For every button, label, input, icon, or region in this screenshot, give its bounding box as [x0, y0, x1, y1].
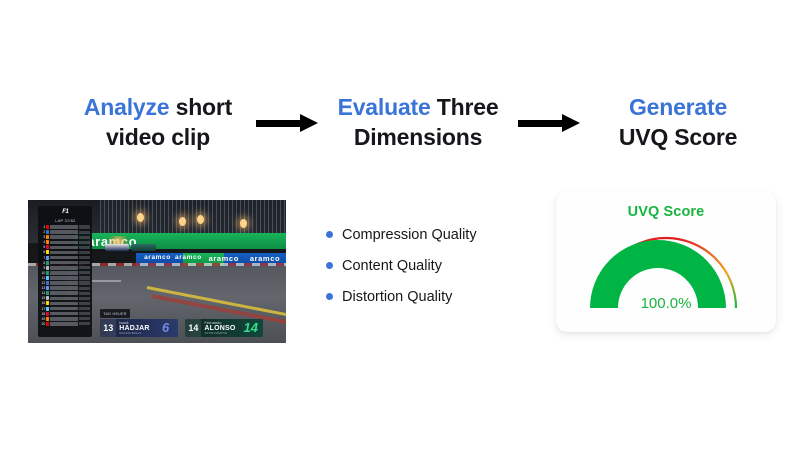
team-colour-bar — [46, 286, 49, 290]
driver-name-plate: 13 Isack HADJAR RACING BULLS 6 — [100, 319, 177, 338]
driver-abbrev — [50, 281, 79, 285]
f1-logo-label: F1 — [62, 209, 68, 215]
driver-abbrev — [50, 317, 79, 321]
team-colour-bar — [46, 266, 49, 270]
driver-abbrev — [50, 307, 79, 311]
timing-position: 8 — [40, 261, 45, 265]
step-title-line2: Dimensions — [354, 124, 482, 150]
timing-position: 12 — [40, 281, 45, 285]
timing-position: 20 — [40, 322, 45, 326]
timing-tower-row: 14 — [40, 291, 90, 296]
gap-time — [79, 251, 90, 254]
driver-abbrev — [50, 225, 79, 229]
team-colour-bar — [46, 256, 49, 260]
list-item: Compression Quality — [326, 219, 536, 250]
timing-position: 9 — [40, 266, 45, 270]
driver-abbrev — [50, 266, 79, 270]
step-title-line2: UVQ Score — [619, 124, 737, 150]
team-colour-bar — [46, 301, 49, 305]
timing-position: 16 — [40, 301, 45, 305]
timing-position: 10 — [40, 271, 45, 275]
arrow-right-icon — [256, 112, 318, 134]
dimension-label: Content Quality — [342, 258, 442, 274]
timing-tower-row: 3 — [40, 235, 90, 240]
timing-tower-row: 5 — [40, 245, 90, 250]
driver-abbrev — [50, 230, 79, 234]
step-accent-word: Evaluate — [338, 94, 431, 120]
sponsor-tag: TAG HEUER — [100, 309, 129, 318]
driver-name-plate: 14 Fernando ALONSO ASTON MARTIN 14 — [185, 319, 262, 338]
gap-time — [79, 317, 90, 320]
team-colour-bar — [46, 250, 49, 254]
bullet-dot-icon — [326, 262, 333, 269]
step-title-line2: video clip — [106, 124, 210, 150]
driver-abbrev — [50, 251, 79, 255]
timing-position: 15 — [40, 296, 45, 300]
bullet-dot-icon — [326, 231, 333, 238]
timing-tower-row: 17 — [40, 306, 90, 311]
uvq-score-title: UVQ Score — [556, 204, 776, 220]
team-colour-bar — [46, 240, 49, 244]
driver-team: RACING BULLS — [119, 332, 153, 335]
driver-abbrev — [50, 312, 79, 316]
driver-abbrev — [50, 261, 79, 265]
timing-tower-row: 20 — [40, 322, 90, 327]
timing-position: 6 — [40, 250, 45, 254]
gap-time — [79, 302, 90, 305]
driver-identity: Isack HADJAR RACING BULLS — [116, 321, 153, 335]
lap-counter: LAP 37/62 — [40, 217, 90, 224]
gap-time — [79, 241, 90, 244]
timing-tower-row: 6 — [40, 250, 90, 255]
timing-position: 18 — [40, 312, 45, 316]
timing-tower-row: 13 — [40, 286, 90, 291]
timing-tower-row: 4 — [40, 240, 90, 245]
timing-position: 13 — [40, 286, 45, 290]
gap-time — [79, 236, 90, 239]
driver-position: 13 — [100, 319, 116, 338]
step-rest-word: Three — [431, 94, 499, 120]
gap-time — [79, 271, 90, 274]
timing-position: 17 — [40, 307, 45, 311]
arrow-head — [562, 114, 580, 132]
arrow-shaft — [256, 120, 304, 127]
timing-tower-row: 10 — [40, 271, 90, 276]
timing-position: 7 — [40, 256, 45, 260]
driver-abbrev — [50, 246, 79, 250]
timing-position: 14 — [40, 291, 45, 295]
timing-tower-row: 18 — [40, 311, 90, 316]
team-colour-bar — [46, 281, 49, 285]
timing-position: 4 — [40, 240, 45, 244]
gap-time — [79, 307, 90, 310]
driver-abbrev — [50, 241, 79, 245]
sponsor-wordmark: aramco — [250, 254, 280, 263]
dimension-list: Compression Quality Content Quality Dist… — [326, 219, 536, 312]
step-rest-word: short — [169, 94, 232, 120]
step-title-evaluate: Evaluate Three Dimensions — [318, 92, 518, 153]
video-floodlights — [105, 207, 280, 236]
driver-car-number: 6 — [154, 320, 178, 335]
timing-position: 11 — [40, 276, 45, 280]
uvq-gauge: 100.0% — [590, 228, 742, 314]
driver-identity: Fernando ALONSO ASTON MARTIN — [201, 321, 238, 335]
timing-tower-row: 2 — [40, 230, 90, 235]
gap-time — [79, 231, 90, 234]
timing-position: 5 — [40, 245, 45, 249]
driver-abbrev — [50, 291, 79, 295]
timing-position: 19 — [40, 317, 45, 321]
uvq-score-card: UVQ Score 100.0% — [556, 192, 776, 332]
gap-time — [79, 322, 90, 325]
team-colour-bar — [46, 291, 49, 295]
driver-abbrev — [50, 302, 79, 306]
timing-tower-row: 7 — [40, 255, 90, 260]
uvq-score-value: 100.0% — [590, 295, 742, 312]
dimension-label: Distortion Quality — [342, 289, 452, 305]
driver-team: ASTON MARTIN — [204, 332, 238, 335]
gap-time — [79, 312, 90, 315]
sponsor-wordmark: aramco — [175, 254, 202, 261]
gap-time — [79, 281, 90, 284]
timing-tower: F1 LAP 37/62 123456789101112131415161718… — [38, 206, 92, 338]
sponsor-wordmark: aramco — [209, 254, 239, 263]
team-colour-bar — [46, 276, 49, 280]
driver-abbrev — [50, 286, 79, 290]
timing-position: 3 — [40, 235, 45, 239]
timing-tower-row: 8 — [40, 260, 90, 265]
timing-tower-rows: 1234567891011121314151617181920 — [40, 225, 90, 326]
team-colour-bar — [46, 235, 49, 239]
team-colour-bar — [46, 261, 49, 265]
team-colour-bar — [46, 230, 49, 234]
gap-time — [79, 276, 90, 279]
bullet-dot-icon — [326, 293, 333, 300]
team-colour-bar — [46, 307, 49, 311]
timing-tower-row: 1 — [40, 225, 90, 230]
list-item: Distortion Quality — [326, 281, 536, 312]
dimension-label: Compression Quality — [342, 227, 477, 243]
arrow-shaft — [518, 120, 566, 127]
arrow-head — [300, 114, 318, 132]
f1-logo-icon: F1 — [40, 208, 90, 217]
gap-time — [79, 297, 90, 300]
team-colour-bar — [46, 312, 49, 316]
video-clip-thumbnail: aramco aramco aramco aramco aramco F1 LA… — [28, 200, 286, 343]
team-colour-bar — [46, 225, 49, 229]
timing-tower-row: 12 — [40, 281, 90, 286]
team-colour-bar — [46, 245, 49, 249]
race-car — [131, 244, 156, 252]
gap-time — [79, 256, 90, 259]
driver-car-number: 14 — [239, 320, 263, 335]
driver-abbrev — [50, 235, 79, 239]
team-colour-bar — [46, 296, 49, 300]
timing-tower-row: 16 — [40, 301, 90, 306]
driver-position: 14 — [185, 319, 201, 338]
infographic-root: Analyze short video clip Evaluate Three … — [0, 0, 804, 452]
gap-time — [79, 266, 90, 269]
step-title-generate: Generate UVQ Score — [578, 92, 778, 153]
timing-tower-row: 9 — [40, 265, 90, 270]
gap-time — [79, 225, 90, 228]
gap-time — [79, 287, 90, 290]
gap-time — [79, 292, 90, 295]
step-accent-word: Generate — [629, 94, 727, 120]
sponsor-wordmark: aramco — [144, 254, 171, 261]
team-colour-bar — [46, 322, 49, 326]
gap-time — [79, 246, 90, 249]
race-car — [105, 244, 128, 251]
driver-abbrev — [50, 271, 79, 275]
list-item: Content Quality — [326, 250, 536, 281]
timing-tower-row: 19 — [40, 316, 90, 321]
driver-abbrev — [50, 322, 79, 326]
driver-abbrev — [50, 276, 79, 280]
timing-position: 2 — [40, 230, 45, 234]
timing-tower-row: 11 — [40, 276, 90, 281]
driver-abbrev — [50, 297, 79, 301]
timing-position: 1 — [40, 225, 45, 229]
gap-time — [79, 261, 90, 264]
arrow-right-icon — [518, 112, 580, 134]
timing-tower-row: 15 — [40, 296, 90, 301]
step-accent-word: Analyze — [84, 94, 170, 120]
team-colour-bar — [46, 317, 49, 321]
step-title-analyze: Analyze short video clip — [58, 92, 258, 153]
team-colour-bar — [46, 271, 49, 275]
driver-abbrev — [50, 256, 79, 260]
